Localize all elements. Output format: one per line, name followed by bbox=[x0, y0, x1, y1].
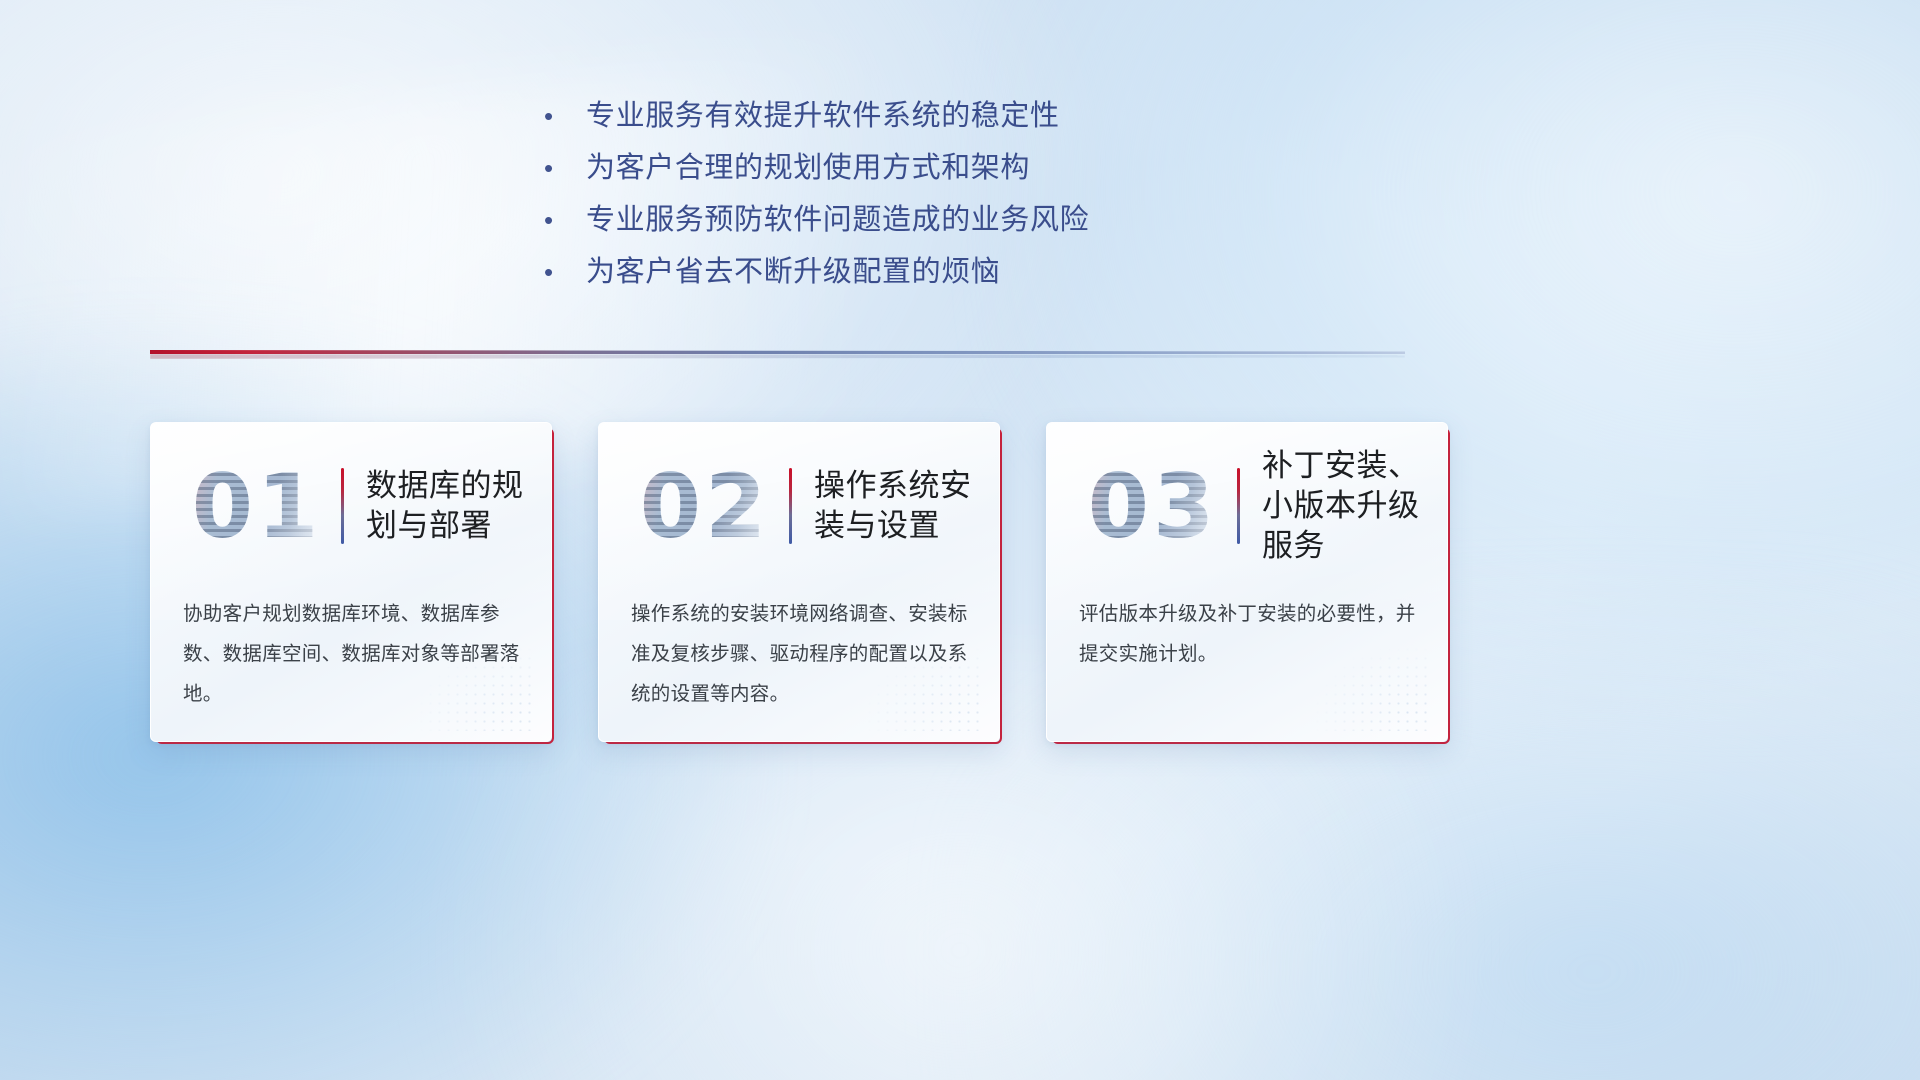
service-card-01[interactable]: 01 01 数据库的规划与部署 协助客户规划数据库环境、数据库参数、数据库空间、… bbox=[150, 422, 552, 742]
card-number-graphic: 01 01 bbox=[173, 452, 341, 560]
card-title-rule bbox=[789, 468, 792, 544]
card-number-fade: 03 bbox=[1069, 452, 1237, 560]
card-number-fade: 01 bbox=[173, 452, 341, 560]
card-description: 操作系统的安装环境网络调查、安装标准及复核步骤、驱动程序的配置以及系统的设置等内… bbox=[631, 595, 973, 715]
card-title-rule bbox=[1237, 468, 1240, 544]
list-item: • 专业服务有效提升软件系统的稳定性 bbox=[540, 92, 1360, 144]
benefits-bullet-list: • 专业服务有效提升软件系统的稳定性 • 为客户合理的规划使用方式和架构 • 专… bbox=[540, 92, 1360, 300]
section-divider bbox=[150, 350, 1405, 361]
card-surface: 02 02 操作系统安装与设置 操作系统的安装环境网络调查、安装标准及复核步骤、… bbox=[598, 422, 1000, 742]
bullet-item-label: 专业服务预防软件问题造成的业务风险 bbox=[586, 196, 1089, 238]
list-item: • 为客户省去不断升级配置的烦恼 bbox=[540, 248, 1360, 300]
card-number-graphic: 02 02 bbox=[621, 452, 789, 560]
card-header: 02 02 操作系统安装与设置 bbox=[599, 441, 999, 571]
card-surface: 01 01 数据库的规划与部署 协助客户规划数据库环境、数据库参数、数据库空间、… bbox=[150, 422, 552, 742]
bullet-point-icon: • bbox=[540, 259, 586, 285]
bullet-point-icon: • bbox=[540, 207, 586, 233]
card-title: 数据库的规划与部署 bbox=[366, 466, 551, 547]
bullet-item-label: 专业服务有效提升软件系统的稳定性 bbox=[586, 92, 1060, 134]
card-title-rule bbox=[341, 468, 344, 544]
card-number-fade: 02 bbox=[621, 452, 789, 560]
card-description: 评估版本升级及补丁安装的必要性，并提交实施计划。 bbox=[1079, 595, 1421, 675]
card-description: 协助客户规划数据库环境、数据库参数、数据库空间、数据库对象等部署落地。 bbox=[183, 595, 525, 715]
bullet-item-label: 为客户省去不断升级配置的烦恼 bbox=[586, 248, 1000, 290]
card-title: 操作系统安装与设置 bbox=[814, 466, 999, 547]
bullet-point-icon: • bbox=[540, 103, 586, 129]
divider-gradient-bar bbox=[150, 350, 1405, 354]
card-title: 补丁安装、小版本升级服务 bbox=[1262, 446, 1447, 567]
bullet-item-label: 为客户合理的规划使用方式和架构 bbox=[586, 144, 1030, 186]
list-item: • 为客户合理的规划使用方式和架构 bbox=[540, 144, 1360, 196]
card-number-graphic: 03 03 bbox=[1069, 452, 1237, 560]
service-card-03[interactable]: 03 03 补丁安装、小版本升级服务 评估版本升级及补丁安装的必要性，并提交实施… bbox=[1046, 422, 1448, 742]
bullet-point-icon: • bbox=[540, 155, 586, 181]
card-header: 01 01 数据库的规划与部署 bbox=[151, 441, 551, 571]
service-card-02[interactable]: 02 02 操作系统安装与设置 操作系统的安装环境网络调查、安装标准及复核步骤、… bbox=[598, 422, 1000, 742]
list-item: • 专业服务预防软件问题造成的业务风险 bbox=[540, 196, 1360, 248]
service-card-group: 01 01 数据库的规划与部署 协助客户规划数据库环境、数据库参数、数据库空间、… bbox=[150, 422, 1450, 742]
card-header: 03 03 补丁安装、小版本升级服务 bbox=[1047, 441, 1447, 571]
divider-shadow-bar bbox=[150, 354, 1405, 359]
card-surface: 03 03 补丁安装、小版本升级服务 评估版本升级及补丁安装的必要性，并提交实施… bbox=[1046, 422, 1448, 742]
